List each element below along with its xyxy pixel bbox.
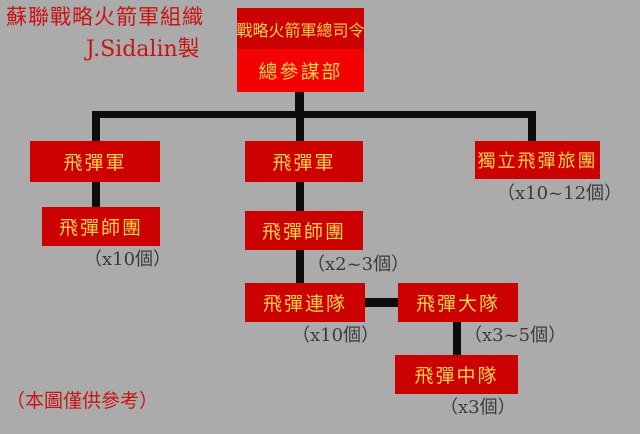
count-left-division: （x10個） <box>84 251 171 269</box>
footer-disclaimer: （本圖僅供參考） <box>6 392 158 411</box>
connector-regiment-to-battalion <box>365 298 398 307</box>
node-right-brigade: 獨立飛彈旅團 <box>475 141 600 179</box>
connector-left-army-to-division <box>92 182 100 208</box>
node-left-division: 飛彈師團 <box>42 207 160 246</box>
connector-battalion-to-company <box>453 322 461 356</box>
count-right-brigade: （x10~12個） <box>497 185 622 203</box>
organization-chart: 蘇聯戰略火箭軍組織 J.Sidalin製 戰略火箭軍總司令 總參謀部 飛彈軍 飛… <box>0 0 640 434</box>
node-mid-division: 飛彈師團 <box>245 211 363 250</box>
node-company: 飛彈中隊 <box>395 355 518 394</box>
connector-mid-army-to-division <box>296 182 304 212</box>
node-hq-command: 戰略火箭軍總司令 <box>237 8 364 49</box>
connector-bus-to-left-army <box>92 111 100 143</box>
node-mid-regiment: 飛彈連隊 <box>245 283 365 322</box>
count-mid-regiment: （x10個） <box>292 327 379 345</box>
connector-bus-to-mid-army <box>296 111 304 143</box>
node-battalion: 飛彈大隊 <box>398 283 518 322</box>
chart-subtitle-author: J.Sidalin製 <box>86 39 200 61</box>
node-mid-army: 飛彈軍 <box>245 141 363 182</box>
chart-title: 蘇聯戰略火箭軍組織 <box>6 7 204 28</box>
count-battalion: （x3~5個） <box>464 327 566 345</box>
count-mid-division: （x2~3個） <box>307 256 409 274</box>
connector-bus-to-right-brigade <box>528 111 536 143</box>
node-left-army: 飛彈軍 <box>30 141 160 182</box>
count-company: （x3個） <box>440 399 516 417</box>
node-hq-staff: 總參謀部 <box>237 49 364 92</box>
connector-mid-division-to-regiment <box>296 250 304 284</box>
connector-main-bus <box>92 111 536 118</box>
